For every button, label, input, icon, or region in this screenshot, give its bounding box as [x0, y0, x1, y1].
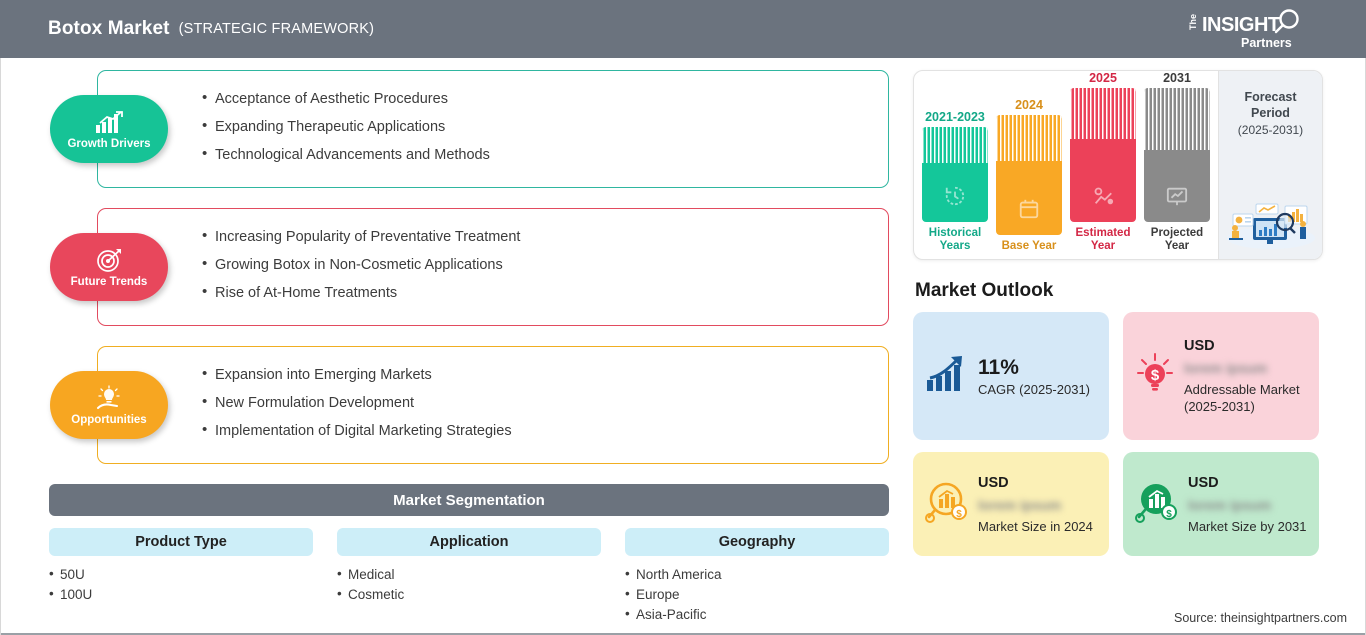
- list-item: Expanding Therapeutic Applications: [202, 113, 888, 141]
- outlook-card-cagr: 11% CAGR (2025-2031): [913, 312, 1109, 440]
- column-items: North America Europe Asia-Pacific: [625, 565, 889, 625]
- bar-year-label: 2025: [1089, 71, 1117, 85]
- list-item: Rise of At-Home Treatments: [202, 279, 888, 307]
- cagr-label: CAGR (2025-2031): [978, 381, 1090, 398]
- market-segmentation-header: Market Segmentation: [49, 484, 889, 516]
- forecast-title-line1: Forecast: [1244, 89, 1296, 105]
- forecast-title-line2: Period: [1251, 105, 1290, 121]
- bar-projected: [1144, 88, 1210, 222]
- list-item: 50U: [49, 565, 313, 585]
- lightbulb-dollar-icon: $: [1135, 352, 1175, 401]
- currency-label: USD: [978, 474, 1093, 493]
- forecast-period-panel: Forecast Period (2025-2031): [1218, 71, 1322, 259]
- list-item: Acceptance of Aesthetic Procedures: [202, 85, 888, 113]
- pill-label: Future Trends: [71, 276, 148, 288]
- outlook-card-addressable-market: $ USD lorem ipsum Addressable Market (20…: [1123, 312, 1319, 440]
- list-item: Expansion into Emerging Markets: [202, 361, 888, 389]
- page-body: Growth Drivers Acceptance of Aesthetic P…: [0, 58, 1366, 635]
- bullet-list: Increasing Popularity of Preventative Tr…: [98, 209, 888, 325]
- svg-text:INSIGHT: INSIGHT: [1202, 14, 1280, 36]
- bar-historical: [922, 127, 988, 222]
- column-title: Geography: [625, 528, 889, 556]
- currency-label: USD: [1184, 337, 1307, 356]
- growth-bar-arrow-icon: [925, 354, 969, 399]
- bar-label: Base Year: [1002, 240, 1057, 253]
- card-label: Market Size in 2024: [978, 518, 1093, 535]
- page-title: Botox Market: [48, 18, 170, 40]
- bar-chart-arrow-icon: [94, 109, 124, 135]
- bar-label: Historical Years: [922, 227, 988, 253]
- svg-text:$: $: [956, 509, 962, 520]
- pill-opportunities[interactable]: Opportunities: [50, 371, 168, 439]
- market-outlook-cards: 11% CAGR (2025-2031): [913, 312, 1349, 556]
- bar-base: [996, 115, 1062, 235]
- list-item: Technological Advancements and Methods: [202, 141, 888, 169]
- bullet-list: Expansion into Emerging Markets New Form…: [98, 347, 888, 463]
- bar-year-label: 2031: [1163, 71, 1191, 85]
- lightbulb-hand-icon: [94, 385, 124, 411]
- bar-label: Estimated Year: [1070, 227, 1136, 253]
- segmentation-column-geography: Geography North America Europe Asia-Paci…: [625, 528, 889, 625]
- card-future-trends: Future Trends Increasing Popularity of P…: [97, 208, 889, 326]
- timeline-bars: 2021-2023 Historical Years 2024: [914, 71, 1218, 259]
- bar-group-estimated: 2025 Estimated Year: [1070, 71, 1136, 259]
- right-column: 2021-2023 Historical Years 2024: [909, 58, 1365, 635]
- cagr-value: 11%: [978, 356, 1019, 379]
- clock-history-icon: [944, 185, 966, 212]
- card-label: Addressable Market (2025-2031): [1184, 381, 1307, 415]
- page-header: Botox Market (STRATEGIC FRAMEWORK) The I…: [0, 0, 1366, 58]
- blurred-value: lorem ipsum: [1184, 358, 1307, 378]
- outlook-card-market-size-2024: $ USD lorem ipsum Market Size in 2024: [913, 452, 1109, 556]
- currency-label: USD: [1188, 474, 1307, 493]
- settings-chart-icon: [1092, 185, 1114, 212]
- bullet-list: Acceptance of Aesthetic Procedures Expan…: [98, 71, 888, 187]
- card-label: Market Size by 2031: [1188, 518, 1307, 535]
- source-attribution: Source: theinsightpartners.com: [1174, 611, 1347, 625]
- blurred-value: lorem ipsum: [978, 495, 1093, 515]
- bar-year-label: 2024: [1015, 98, 1043, 112]
- market-outlook-title: Market Outlook: [915, 280, 1349, 302]
- list-item: Medical: [337, 565, 601, 585]
- card-opportunities: Opportunities Expansion into Emerging Ma…: [97, 346, 889, 464]
- magnifier-chart-dollar-icon: $: [1135, 481, 1179, 528]
- bar-estimated: [1070, 88, 1136, 222]
- analytics-dashboard-illustration: [1223, 188, 1319, 255]
- segmentation-column-product-type: Product Type 50U 100U: [49, 528, 313, 625]
- forecast-years: (2025-2031): [1238, 123, 1303, 137]
- svg-text:$: $: [1166, 509, 1172, 520]
- pill-label: Growth Drivers: [67, 138, 150, 150]
- list-item: Implementation of Digital Marketing Stra…: [202, 417, 888, 445]
- column-items: Medical Cosmetic: [337, 565, 601, 605]
- pill-future-trends[interactable]: Future Trends: [50, 233, 168, 301]
- column-items: 50U 100U: [49, 565, 313, 605]
- target-dart-icon: [95, 247, 123, 273]
- list-item: New Formulation Development: [202, 389, 888, 417]
- svg-text:The: The: [1188, 14, 1198, 30]
- column-title: Application: [337, 528, 601, 556]
- list-item: Increasing Popularity of Preventative Tr…: [202, 223, 888, 251]
- segmentation-column-application: Application Medical Cosmetic: [337, 528, 601, 625]
- bar-group-base: 2024 Base Year: [996, 71, 1062, 259]
- left-column: Growth Drivers Acceptance of Aesthetic P…: [1, 58, 909, 635]
- blurred-value: lorem ipsum: [1188, 495, 1307, 515]
- magnifier-chart-dollar-icon: $: [925, 481, 969, 528]
- segmentation-columns: Product Type 50U 100U Application Medica…: [49, 528, 889, 625]
- list-item: North America: [625, 565, 889, 585]
- calendar-icon: [1018, 198, 1040, 225]
- bar-group-historical: 2021-2023 Historical Years: [922, 71, 988, 259]
- presentation-chart-icon: [1166, 185, 1188, 212]
- bar-year-label: 2021-2023: [925, 110, 985, 124]
- page-subtitle: (STRATEGIC FRAMEWORK): [179, 21, 375, 37]
- bar-label: Projected Year: [1144, 227, 1210, 253]
- list-item: Growing Botox in Non-Cosmetic Applicatio…: [202, 251, 888, 279]
- forecast-timeline-chart: 2021-2023 Historical Years 2024: [913, 70, 1323, 260]
- pill-label: Opportunities: [71, 414, 146, 426]
- outlook-card-market-size-2031: $ USD lorem ipsum Market Size by 2031: [1123, 452, 1319, 556]
- list-item: Asia-Pacific: [625, 605, 889, 625]
- column-title: Product Type: [49, 528, 313, 556]
- list-item: 100U: [49, 585, 313, 605]
- list-item: Cosmetic: [337, 585, 601, 605]
- list-item: Europe: [625, 585, 889, 605]
- pill-growth-drivers[interactable]: Growth Drivers: [50, 95, 168, 163]
- svg-text:Partners: Partners: [1241, 36, 1292, 50]
- bar-group-projected: 2031 Projected Year: [1144, 71, 1210, 259]
- svg-text:$: $: [1151, 367, 1160, 384]
- card-growth-drivers: Growth Drivers Acceptance of Aesthetic P…: [97, 70, 889, 188]
- insight-partners-logo: The INSIGHT Partners: [1188, 6, 1308, 52]
